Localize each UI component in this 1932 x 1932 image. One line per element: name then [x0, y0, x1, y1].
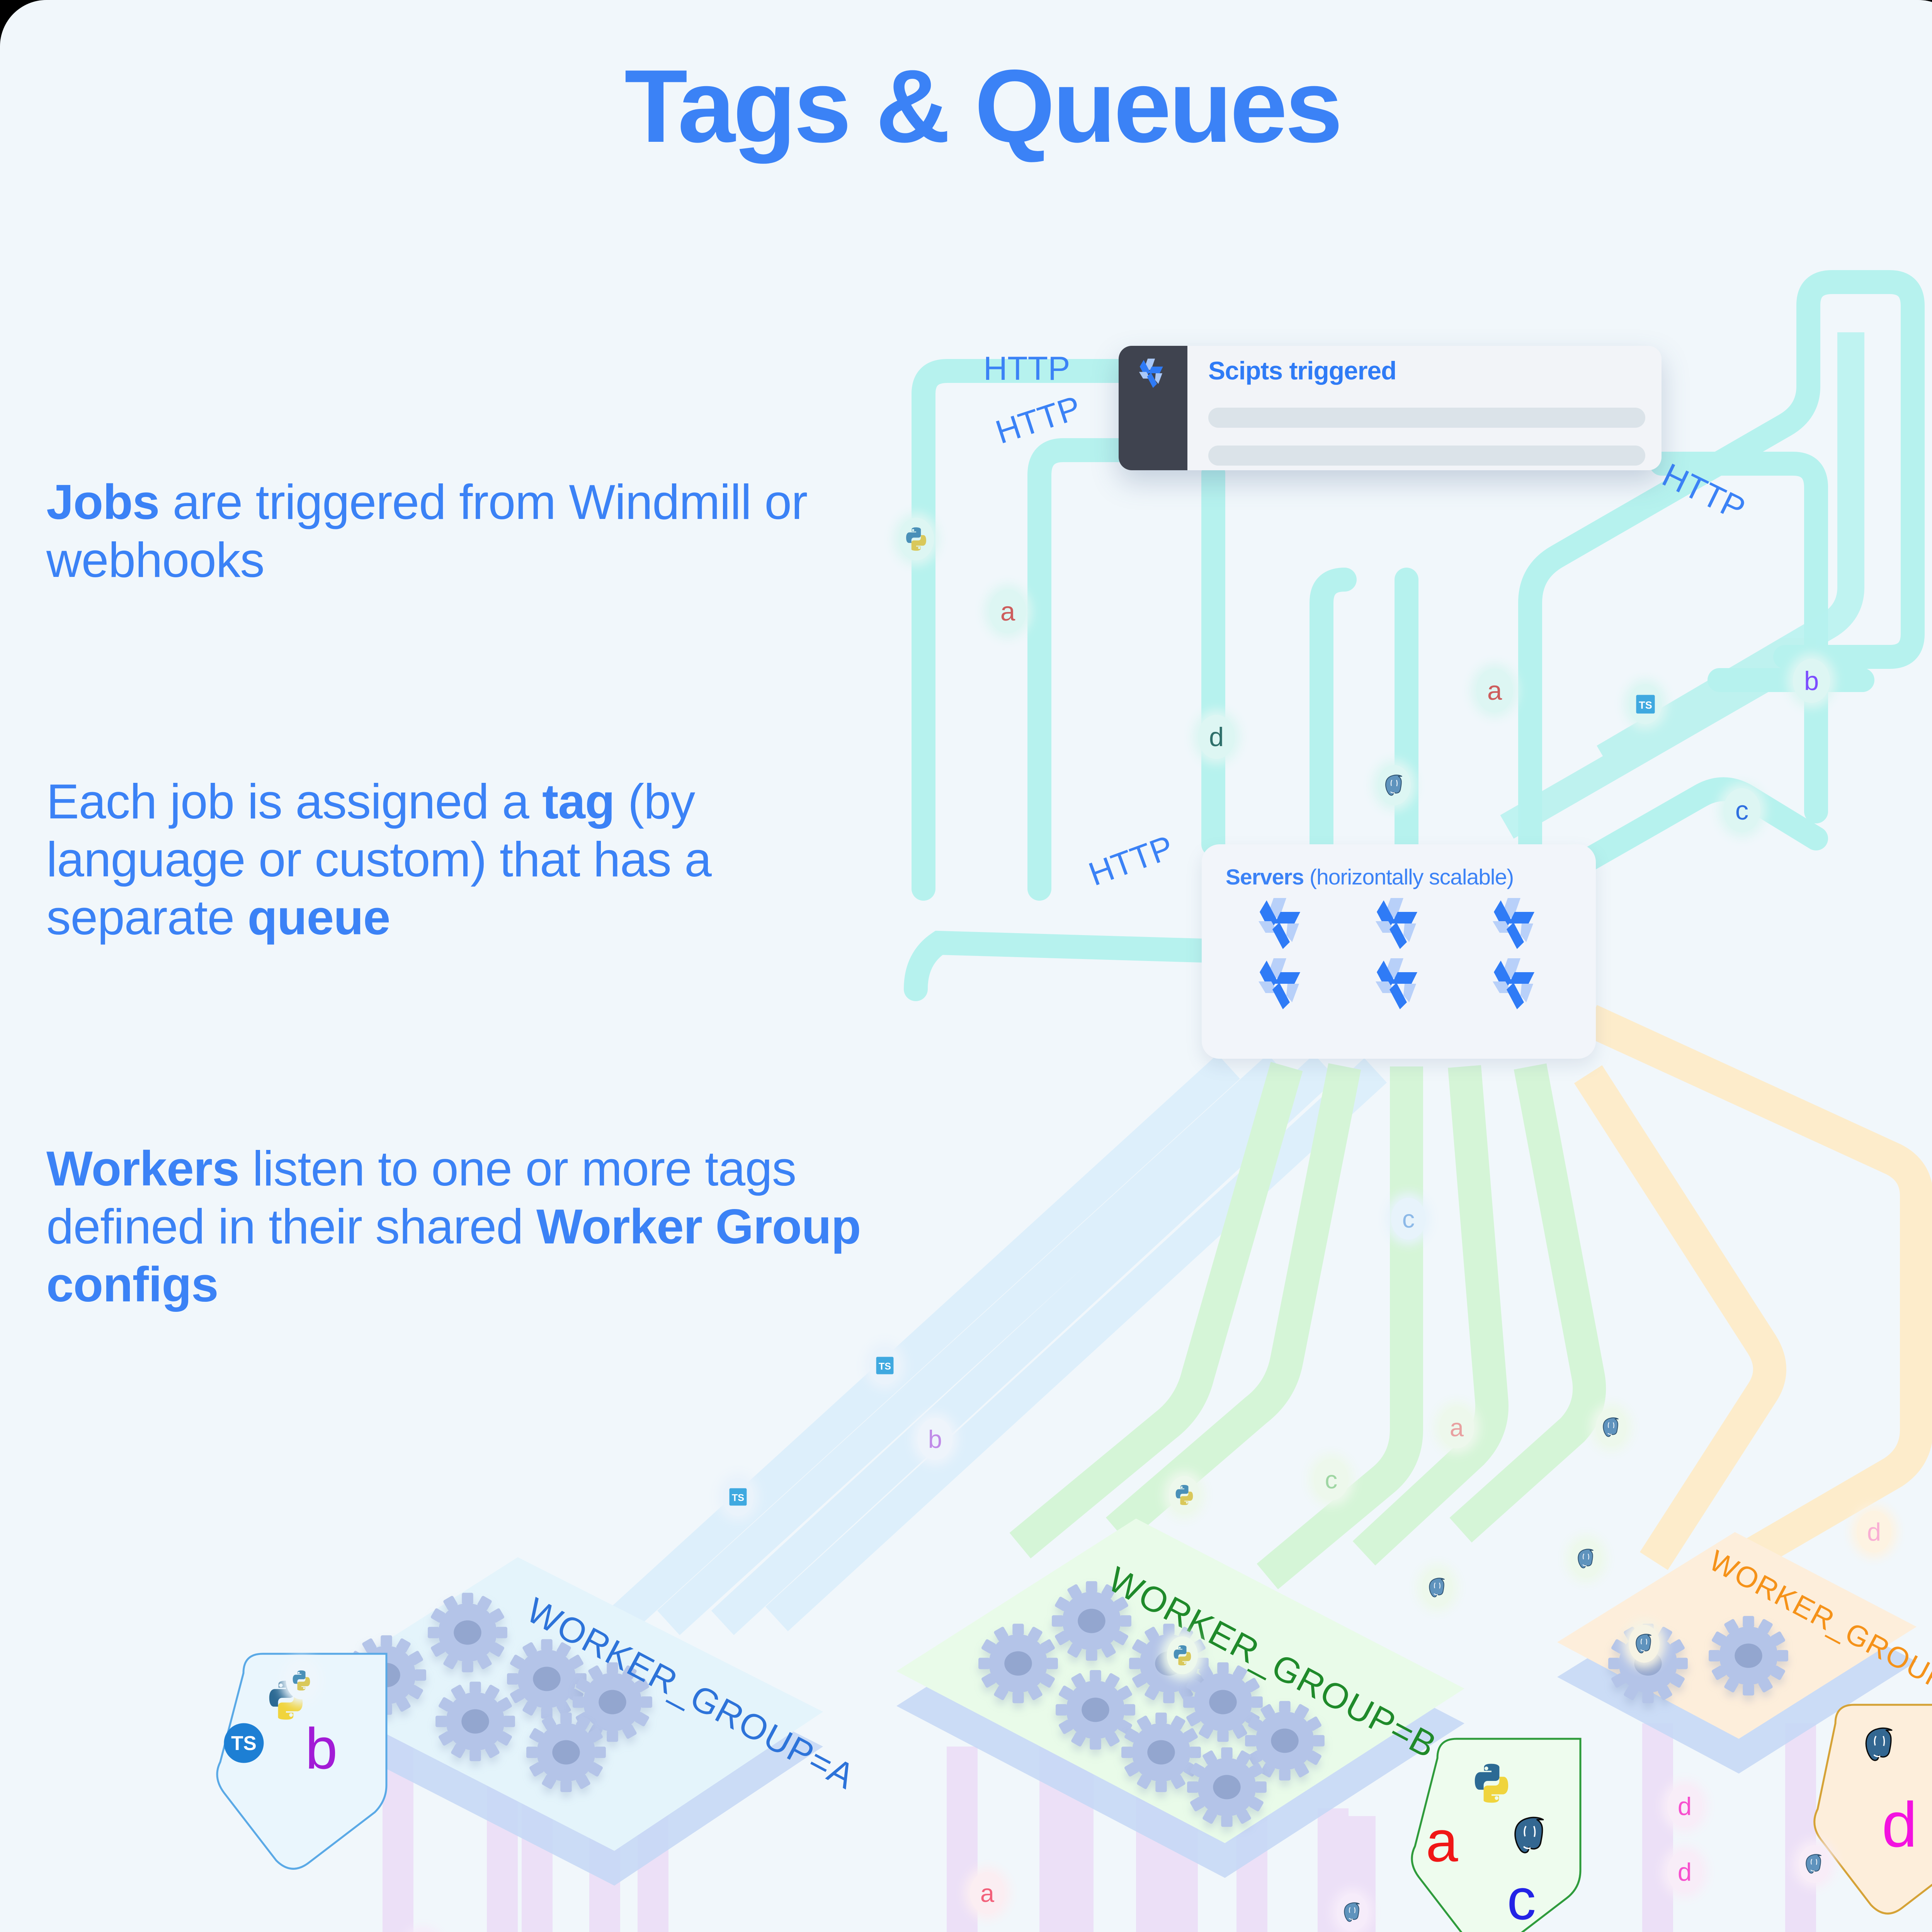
svg-text:TS: TS: [231, 1732, 257, 1754]
gear-icon: [526, 1712, 607, 1793]
tag-token-a: a: [1476, 668, 1513, 713]
gear-icon: [1186, 1747, 1267, 1828]
postgres-icon: [1571, 1540, 1602, 1578]
tag-token-c: c: [1391, 1198, 1426, 1240]
tag-letter-b: b: [305, 1719, 337, 1777]
gear-icon: [1708, 1615, 1789, 1696]
tag-token-b: b: [1793, 659, 1830, 703]
python-icon: [1468, 1760, 1515, 1806]
svg-text:TS: TS: [879, 1361, 891, 1372]
python-icon: [1169, 1476, 1200, 1514]
tag-letter-d: d: [1882, 1793, 1917, 1857]
typescript-icon: TS: [723, 1478, 753, 1516]
postgres-icon: [1507, 1812, 1553, 1859]
postgres-icon: [1859, 1723, 1901, 1766]
python-icon: [1167, 1636, 1198, 1674]
python-icon: [286, 1662, 317, 1699]
postgres-icon: [1422, 1569, 1453, 1607]
gear-icon: [1708, 1615, 1789, 1696]
tag-token-d: d: [1667, 1851, 1702, 1893]
tag-letter-c: c: [1507, 1870, 1536, 1928]
typescript-icon: TS: [222, 1721, 265, 1765]
python-icon: [898, 518, 934, 560]
typescript-icon: TS: [1629, 684, 1662, 724]
tag-token-a: a: [989, 589, 1026, 633]
tag-letter-a: a: [1426, 1812, 1458, 1870]
gear-icon: [978, 1623, 1059, 1704]
svg-text:TS: TS: [732, 1493, 744, 1503]
gear-icon: [1186, 1747, 1267, 1828]
tag-token-c: c: [1314, 1459, 1349, 1500]
tag-token-a: a: [1439, 1406, 1474, 1448]
postgres-icon: [1596, 1408, 1627, 1446]
gear-icon: [526, 1712, 607, 1793]
tag-token-b: b: [918, 1418, 952, 1460]
infographic-canvas: Tags & Queues Jobs are triggered from Wi…: [0, 0, 1932, 1932]
tag-token-d: d: [1198, 715, 1235, 759]
gear-icon: [978, 1623, 1059, 1704]
typescript-icon: TS: [869, 1347, 900, 1384]
postgres-icon: [1337, 1893, 1368, 1931]
postgres-icon: [1378, 765, 1411, 805]
postgres-icon: [1629, 1625, 1660, 1663]
tag-token-c: c: [1723, 788, 1760, 832]
svg-text:TS: TS: [1639, 699, 1652, 711]
postgres-icon: [1799, 1845, 1830, 1883]
tag-token-d: d: [1857, 1511, 1891, 1553]
tag-token-a: a: [970, 1872, 1005, 1914]
tag-token-d: d: [1667, 1785, 1702, 1827]
